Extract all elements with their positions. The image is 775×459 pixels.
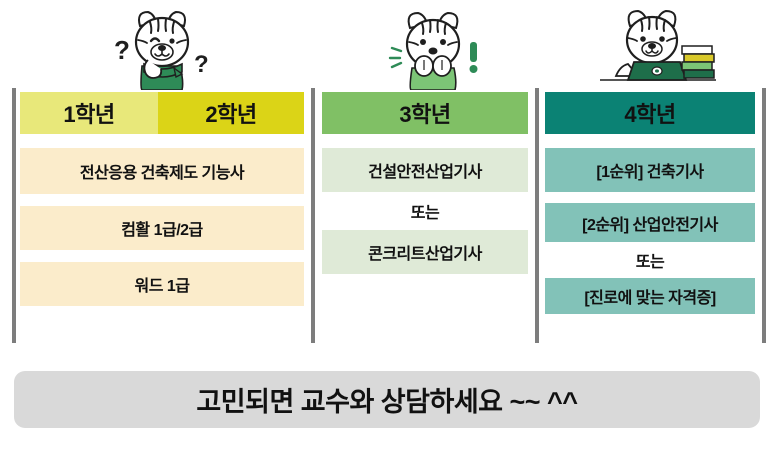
column-header-row: 3학년 — [322, 92, 528, 134]
column-items: 전산응용 건축제도 기능사 컴활 1급/2급 워드 1급 — [20, 148, 304, 306]
question-mark-left: ? — [114, 35, 130, 65]
column-header-row: 4학년 — [545, 92, 755, 134]
exclamation-mark — [470, 42, 477, 62]
advice-banner[interactable]: 고민되면 교수와 상담하세요 ~~ ^^ — [14, 371, 760, 428]
column-year-3: 3학년 건설안전산업기사 또는 콘크리트산업기사 — [322, 92, 528, 274]
item-certificate[interactable]: [진로에 맞는 자격증] — [545, 278, 755, 314]
item-certificate[interactable]: 컴활 1급/2급 — [20, 206, 304, 250]
tiger-studying-icon — [598, 4, 718, 90]
tiger-thinking-icon: ? ? — [100, 4, 215, 90]
tiger-studying-mascot — [598, 4, 718, 90]
tiger-surprised-icon — [378, 4, 488, 90]
divider-col1-col2 — [311, 88, 315, 343]
spacer — [20, 250, 304, 262]
book-stack-icon — [682, 46, 714, 78]
divider-right — [762, 88, 766, 343]
divider-left — [12, 88, 16, 343]
item-certificate[interactable]: 워드 1급 — [20, 262, 304, 306]
header-year-2[interactable]: 2학년 — [158, 92, 304, 134]
header-year-4[interactable]: 4학년 — [545, 92, 755, 134]
infographic-root: ? ? — [0, 0, 775, 459]
divider-col2-col3 — [535, 88, 539, 343]
spacer — [545, 192, 755, 203]
advice-banner-text: 고민되면 교수와 상담하세요 ~~ ^^ — [196, 380, 577, 419]
item-certificate[interactable]: [2순위] 산업안전기사 — [545, 203, 755, 242]
column-items: [1순위] 건축기사 [2순위] 산업안전기사 또는 [진로에 맞는 자격증] — [545, 148, 755, 314]
column-header-row: 1학년 2학년 — [20, 92, 304, 134]
item-connector-or: 또는 — [322, 192, 528, 230]
spacer — [20, 194, 304, 206]
tiger-thinking-mascot: ? ? — [100, 4, 215, 90]
item-connector-or: 또는 — [545, 242, 755, 278]
item-certificate[interactable]: 전산응용 건축제도 기능사 — [20, 148, 304, 194]
header-year-3[interactable]: 3학년 — [322, 92, 528, 134]
header-year-1[interactable]: 1학년 — [20, 92, 158, 134]
question-mark-right: ? — [194, 51, 209, 78]
item-certificate[interactable]: 콘크리트산업기사 — [322, 230, 528, 274]
column-items: 건설안전산업기사 또는 콘크리트산업기사 — [322, 148, 528, 274]
column-year-4: 4학년 [1순위] 건축기사 [2순위] 산업안전기사 또는 [진로에 맞는 자… — [545, 92, 755, 314]
item-certificate[interactable]: [1순위] 건축기사 — [545, 148, 755, 192]
tiger-surprised-mascot — [378, 4, 488, 90]
column-year-1-2: 1학년 2학년 전산응용 건축제도 기능사 컴활 1급/2급 워드 1급 — [20, 92, 304, 306]
item-certificate[interactable]: 건설안전산업기사 — [322, 148, 528, 192]
